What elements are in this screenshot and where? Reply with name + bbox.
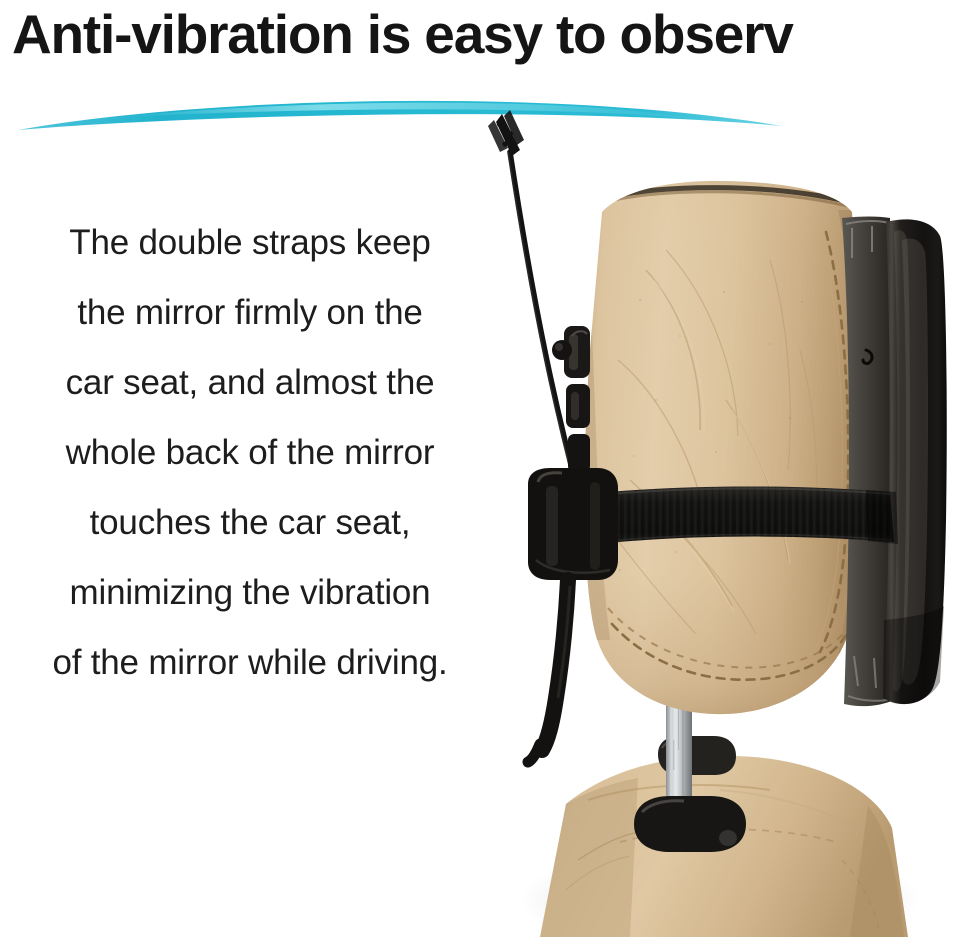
upper-strap (488, 110, 590, 492)
strap-cord (510, 152, 578, 492)
body-line: of the mirror while driving. (0, 628, 500, 698)
page-title: Anti-vibration is easy to observ (12, 0, 956, 72)
mirror-unit (842, 217, 947, 707)
infographic-page: Anti-vibration is easy to observ (0, 0, 956, 937)
body-line: the mirror firmly on the (0, 278, 500, 348)
product-photo (470, 100, 956, 937)
strap-cord-tip (488, 110, 524, 156)
body-line: whole back of the mirror (0, 418, 500, 488)
body-copy: The double straps keep the mirror firmly… (0, 208, 500, 698)
strap-buckle (528, 468, 618, 580)
body-line: minimizing the vibration (0, 558, 500, 628)
body-line: car seat, and almost the (0, 348, 500, 418)
body-line: touches the car seat, (0, 488, 500, 558)
headrest-cushion (570, 176, 880, 730)
body-line: The double straps keep (0, 208, 500, 278)
